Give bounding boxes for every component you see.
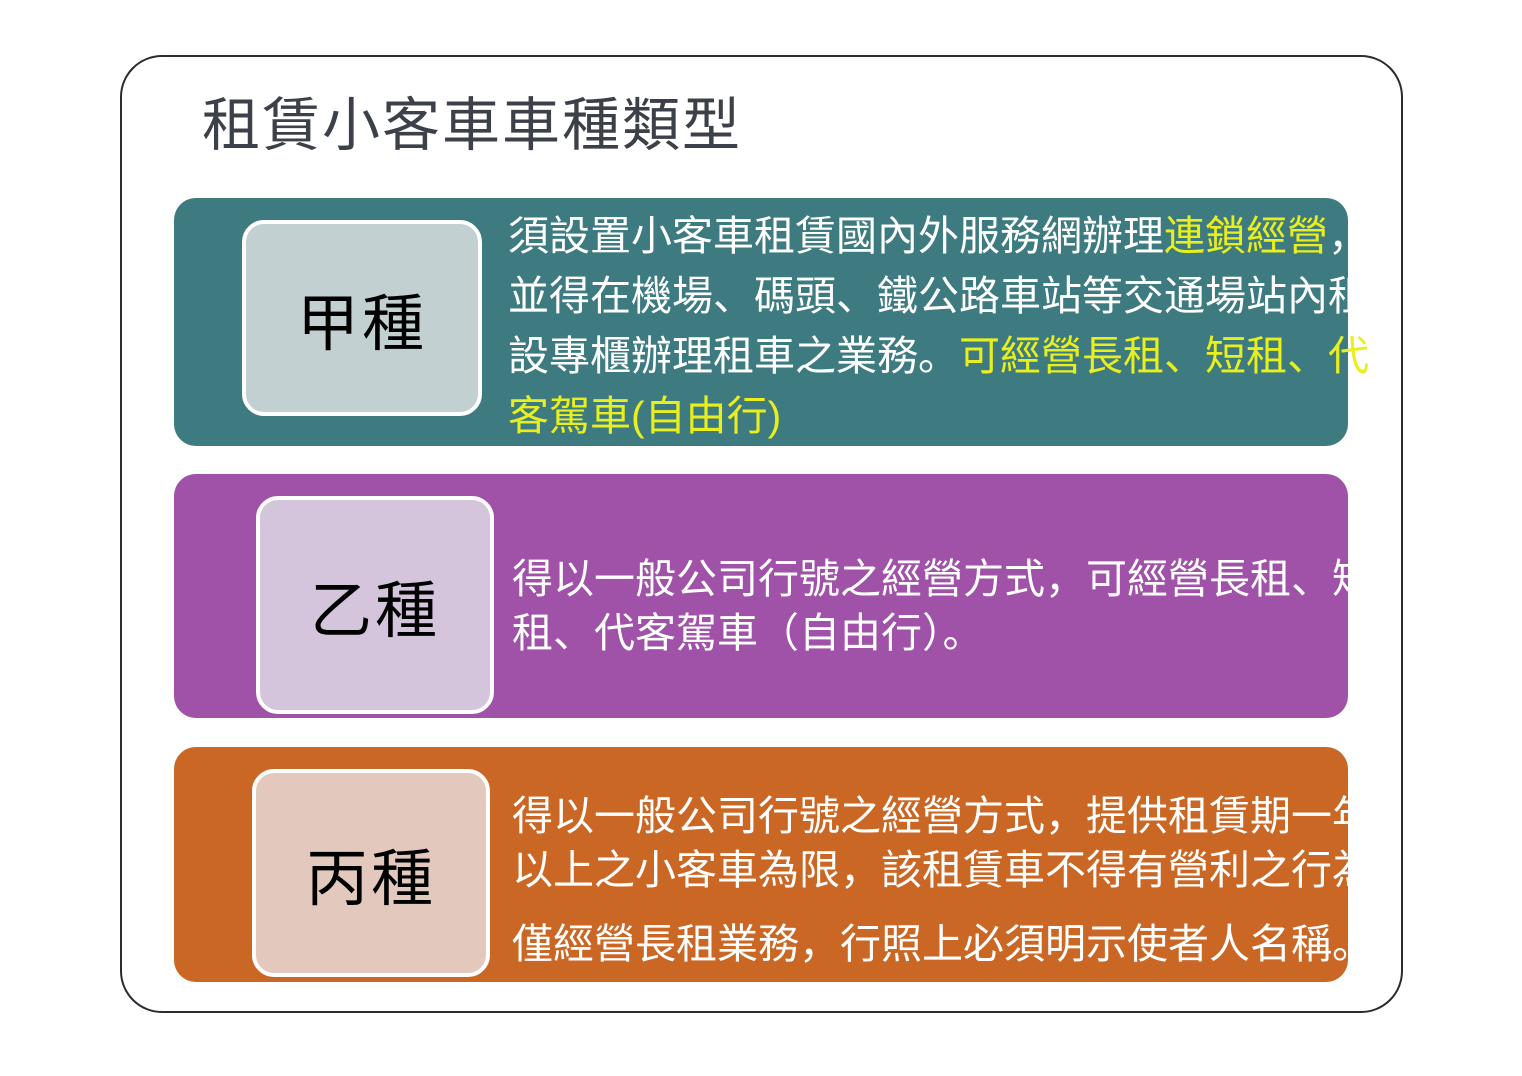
row-jia-line-3-seg-1: 設專櫃辦理租車之業務。 <box>508 333 959 379</box>
content-card: 租賃小客車車種類型 甲種 須設置小客車租賃國內外服務網辦理連鎖經營， 並得在機場… <box>120 55 1403 1013</box>
row-jia-line-4: 客駕車(自由行) <box>508 386 1336 446</box>
row-jia-description: 須設置小客車租賃國內外服務網辦理連鎖經營， 並得在機場、碼頭、鐵公路車站等交通場… <box>508 206 1336 446</box>
row-bing[interactable]: 丙種 得以一般公司行號之經營方式，提供租賃期一年 以上之小客車為限，該租賃車不得… <box>174 747 1348 982</box>
row-jia-line-3-seg-2-highlight: 可經營長租、短租、代 <box>959 333 1369 379</box>
row-bing-line-2-seg-1: 以上之小客車為限，該租賃車不得有營利之行為。 <box>512 847 1414 893</box>
row-jia-line-4-seg-1-highlight: 客駕車(自由行) <box>508 393 781 439</box>
row-jia-line-1-seg-2-highlight: 連鎖經營 <box>1164 213 1328 259</box>
row-jia-line-1: 須設置小客車租賃國內外服務網辦理連鎖經營， <box>508 206 1336 266</box>
slide-canvas: 租賃小客車車種類型 甲種 須設置小客車租賃國內外服務網辦理連鎖經營， 並得在機場… <box>0 0 1522 1076</box>
badge-jia[interactable]: 甲種 <box>242 220 482 416</box>
row-yi-line-1: 得以一般公司行號之經營方式，可經營長租、短 <box>512 552 1332 606</box>
row-jia[interactable]: 甲種 須設置小客車租賃國內外服務網辦理連鎖經營， 並得在機場、碼頭、鐵公路車站等… <box>174 198 1348 446</box>
row-yi[interactable]: 乙種 得以一般公司行號之經營方式，可經營長租、短 租、代客駕車（自由行）。 <box>174 474 1348 718</box>
row-yi-line-2-seg-1: 租、代客駕車（自由行）。 <box>512 610 984 656</box>
row-jia-line-2-seg-1: 並得在機場、碼頭、鐵公路車站等交通場站內租 <box>508 273 1369 319</box>
badge-jia-label: 甲種 <box>297 273 427 363</box>
row-bing-description: 得以一般公司行號之經營方式，提供租賃期一年 以上之小客車為限，該租賃車不得有營利… <box>512 789 1332 971</box>
row-bing-line-3: 僅經營長租業務，行照上必須明示使者人名稱。 <box>512 917 1332 971</box>
badge-bing-label: 丙種 <box>306 828 436 918</box>
row-bing-spacer <box>512 897 1332 917</box>
row-jia-line-2: 並得在機場、碼頭、鐵公路車站等交通場站內租 <box>508 266 1336 326</box>
row-yi-description: 得以一般公司行號之經營方式，可經營長租、短 租、代客駕車（自由行）。 <box>512 552 1332 660</box>
row-jia-line-1-seg-3: ， <box>1328 213 1369 259</box>
row-jia-line-3: 設專櫃辦理租車之業務。可經營長租、短租、代 <box>508 326 1336 386</box>
row-jia-line-1-seg-1: 須設置小客車租賃國內外服務網辦理 <box>508 213 1164 259</box>
badge-bing[interactable]: 丙種 <box>252 769 490 977</box>
row-bing-line-3-seg-1: 僅經營長租業務，行照上必須明示使者人名稱。 <box>512 921 1373 967</box>
row-bing-line-1: 得以一般公司行號之經營方式，提供租賃期一年 <box>512 789 1332 843</box>
page-title: 租賃小客車車種類型 <box>202 93 742 160</box>
badge-yi[interactable]: 乙種 <box>256 496 494 714</box>
row-bing-line-1-seg-1: 得以一般公司行號之經營方式，提供租賃期一年 <box>512 793 1373 839</box>
badge-yi-label: 乙種 <box>310 560 440 650</box>
row-bing-line-2: 以上之小客車為限，該租賃車不得有營利之行為。 <box>512 843 1332 897</box>
row-yi-line-1-seg-1: 得以一般公司行號之經營方式，可經營長租、短 <box>512 556 1373 602</box>
row-yi-line-2: 租、代客駕車（自由行）。 <box>512 606 1332 660</box>
